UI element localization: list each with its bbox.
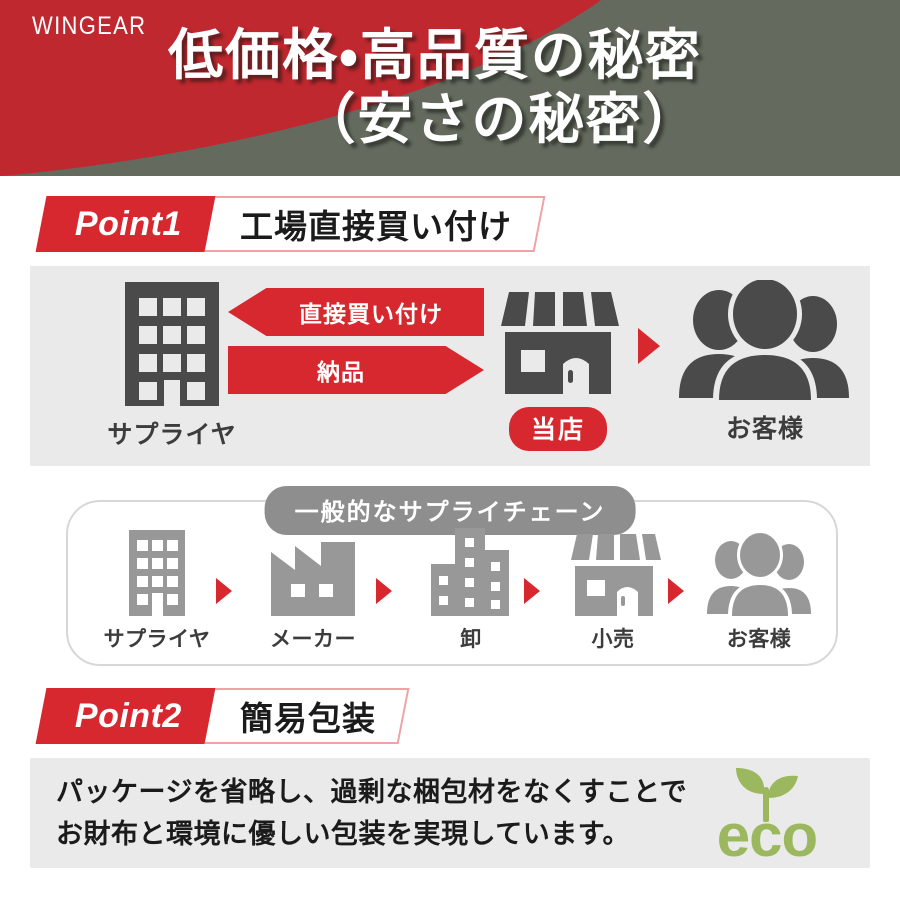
point1-heading: 工場直接買い付け — [204, 196, 545, 252]
chain-item-retail: 小売 — [548, 528, 678, 653]
point2-tag: Point2 — [36, 688, 218, 744]
arrow-direct-purchase-label: 直接買い付け — [299, 295, 443, 329]
chain-item-customer: お客様 — [694, 528, 824, 653]
point1-tag-label: Point1 — [75, 205, 182, 244]
flow-node-shop: 当店 — [468, 284, 648, 451]
chain-item-supplier-label: サプライヤ — [92, 623, 222, 653]
point2-tag-label: Point2 — [75, 697, 182, 736]
office-building-icon — [121, 528, 193, 616]
page-title-line2: （安さの秘密） — [0, 88, 870, 152]
direct-flow-diagram: サプライヤ 直接買い付け 納品 — [30, 266, 870, 466]
chain-item-maker-label: メーカー — [248, 623, 378, 653]
chain-arrow-2-icon — [376, 578, 392, 604]
point2-heading: 簡易包装 — [204, 688, 409, 744]
point2-banner: Point2 簡易包装 — [30, 688, 404, 744]
chain-item-maker: メーカー — [248, 528, 378, 653]
point1-flow-panel: サプライヤ 直接買い付け 納品 — [30, 266, 870, 466]
chain-item-customer-label: お客様 — [694, 623, 824, 653]
factory-icon — [265, 528, 361, 616]
chain-arrow-1-icon — [216, 578, 232, 604]
eco-logo: eco — [702, 764, 832, 864]
shop-highlight-badge: 当店 — [509, 407, 607, 451]
page-header: WINGEAR 低価格・高品質の秘密 （安さの秘密） — [0, 0, 900, 176]
eco-logo-text: eco — [702, 806, 832, 866]
chain-item-supplier: サプライヤ — [92, 528, 222, 653]
wholesale-building-icon — [423, 528, 519, 616]
point2-text-panel: パッケージを省略し、過剰な梱包材をなくすことで お財布と環境に優しい包装を実現し… — [30, 758, 870, 868]
point1-heading-label: 工場直接買い付け — [240, 200, 512, 248]
arrow-delivery-label: 納品 — [317, 353, 365, 387]
page-title-line1: 低価格・高品質の秘密 — [168, 24, 702, 86]
infographic-page: WINGEAR 低価格・高品質の秘密 （安さの秘密） Point1 工場直接買い… — [0, 0, 900, 900]
chain-arrow-3-icon — [524, 578, 540, 604]
point1-banner: Point1 工場直接買い付け — [30, 196, 540, 252]
retail-shop-icon — [565, 528, 661, 616]
chain-item-wholesale: 卸 — [406, 528, 536, 653]
flow-node-customer-label: お客様 — [670, 409, 860, 445]
chain-item-wholesale-label: 卸 — [406, 623, 536, 653]
arrow-direct-purchase: 直接買い付け — [228, 288, 484, 336]
arrow-delivery: 納品 — [228, 346, 484, 394]
office-building-icon — [119, 278, 225, 406]
storefront-icon — [495, 284, 621, 400]
chain-item-retail-label: 小売 — [548, 623, 678, 653]
point2-body-text: パッケージを省略し、過剰な梱包材をなくすことで お財布と環境に優しい包装を実現し… — [56, 772, 687, 856]
point2-body-line2: お財布と環境に優しい包装を実現しています。 — [56, 814, 687, 856]
point1-tag: Point1 — [36, 196, 218, 252]
people-group-icon — [675, 280, 855, 400]
flow-node-supplier-label: サプライヤ — [82, 415, 262, 451]
chain-arrow-4-icon — [668, 578, 684, 604]
flow-node-shop-label-wrap: 当店 — [468, 407, 648, 451]
point2-body-line1: パッケージを省略し、過剰な梱包材をなくすことで — [56, 772, 687, 814]
flow-arrow-triangle — [638, 328, 660, 364]
people-group-icon — [704, 528, 814, 616]
page-title: 低価格・高品質の秘密 （安さの秘密） — [0, 24, 870, 152]
point2-heading-label: 簡易包装 — [240, 692, 376, 740]
flow-node-customer: お客様 — [670, 280, 860, 445]
